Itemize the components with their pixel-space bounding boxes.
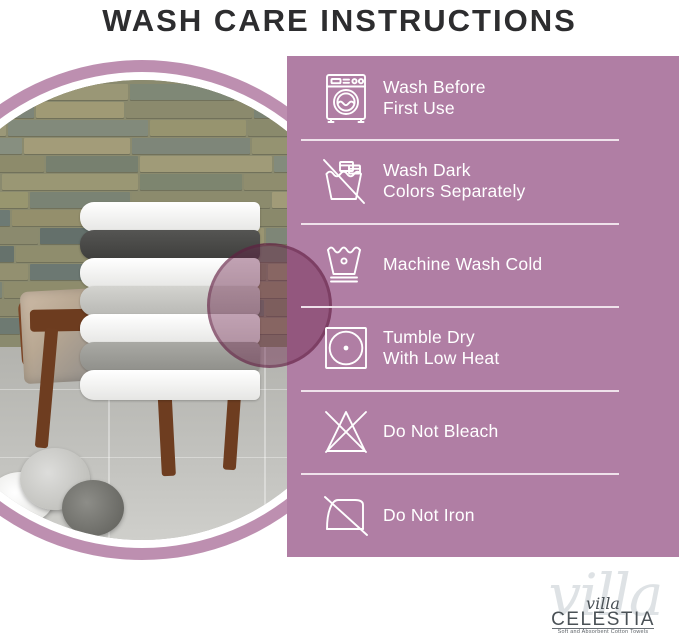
brand-logo: villa villa CELESTIA Soft and Absorbent … (536, 566, 670, 638)
logo-brand-name: CELESTIA (536, 610, 670, 630)
care-row-do-not-bleach-fg: Do Not Bleach (287, 390, 679, 474)
care-label: Machine Wash Cold (383, 254, 542, 275)
do-not-bleach-icon (287, 404, 383, 460)
care-divider (301, 390, 619, 392)
rolled-towel (62, 480, 124, 536)
care-divider (301, 306, 619, 308)
machine-wash-cold-icon (287, 237, 383, 293)
care-row-wash-before-first-use-fg: Wash Before First Use (287, 56, 679, 140)
do-not-iron-icon (287, 487, 383, 543)
care-divider (301, 473, 619, 475)
care-divider (301, 223, 619, 225)
wash-care-instruction-card: WASH CARE INSTRUCTIONS (0, 0, 679, 642)
care-label: Wash Dark Colors Separately (383, 160, 526, 202)
care-instructions-panel-foreground: Wash Before First Use Wash Dark Colors S… (287, 56, 679, 557)
care-label: Do Not Iron (383, 505, 475, 526)
care-row-wash-dark-colors-separately-fg: Wash Dark Colors Separately (287, 140, 679, 224)
care-row-do-not-iron-fg: Do Not Iron (287, 474, 679, 558)
care-label: Wash Before First Use (383, 77, 486, 119)
washing-machine-icon (287, 70, 383, 126)
logo-tagline: Soft and Absorbent Cotton Towels (536, 629, 670, 635)
care-row-tumble-dry-low-heat-fg: Tumble Dry With Low Heat (287, 307, 679, 391)
folded-towel (80, 202, 260, 232)
care-label: Do Not Bleach (383, 421, 498, 442)
care-divider (301, 139, 619, 141)
tumble-dry-low-icon (287, 320, 383, 376)
page-title: WASH CARE INSTRUCTIONS (0, 2, 679, 40)
care-row-machine-wash-cold-fg: Machine Wash Cold (287, 223, 679, 307)
wash-dark-separately-icon (287, 153, 383, 209)
care-label: Tumble Dry With Low Heat (383, 327, 499, 369)
folded-towel (80, 370, 260, 400)
